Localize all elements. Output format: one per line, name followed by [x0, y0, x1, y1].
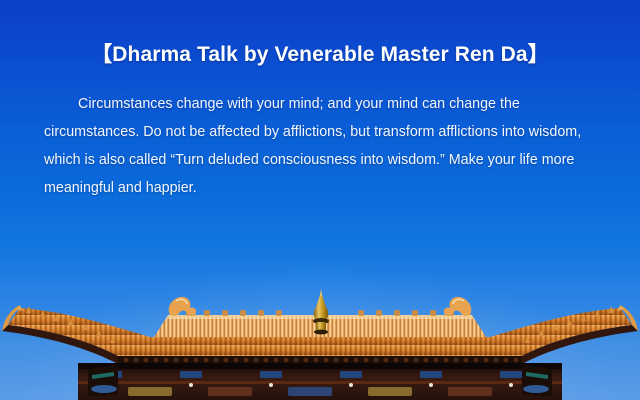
ridge-ornament-left [169, 297, 196, 316]
temple-roof-illustration [0, 285, 640, 400]
banner-title: 【Dharma Talk by Venerable Master Ren Da】 [44, 38, 596, 68]
temple-roof-photo [0, 285, 640, 400]
banner-body-text: Circumstances change with your mind; and… [44, 90, 596, 202]
ridge-ornament-right [444, 297, 471, 316]
text-content-block: 【Dharma Talk by Venerable Master Ren Da】… [0, 0, 640, 202]
dharma-talk-banner: 【Dharma Talk by Venerable Master Ren Da】… [0, 0, 640, 400]
eave-tile-ends [118, 356, 522, 363]
